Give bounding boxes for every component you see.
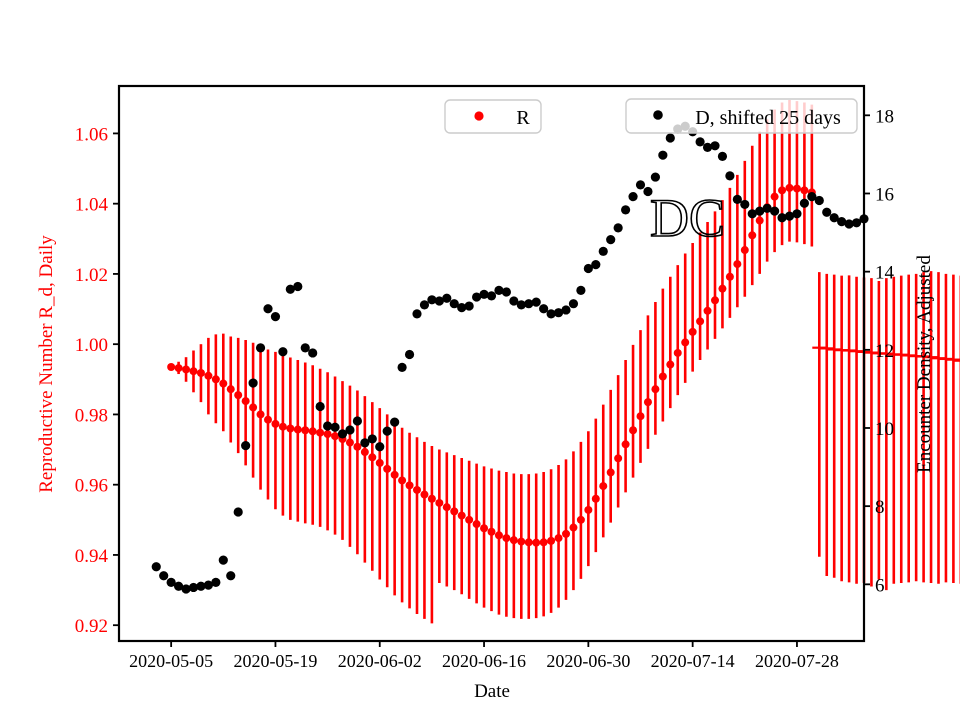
left-tick-label: 0.98 xyxy=(75,405,108,426)
d-point xyxy=(249,378,258,387)
r-point xyxy=(383,465,391,473)
d-point xyxy=(219,555,228,564)
d-point xyxy=(390,418,399,427)
x-tick-label: 2020-05-05 xyxy=(129,651,213,671)
chart-figure: DC 0.920.940.960.981.001.021.041.06 6810… xyxy=(0,0,960,720)
left-tick-label: 1.04 xyxy=(75,195,109,216)
r-point xyxy=(733,260,741,268)
r-point xyxy=(361,448,369,456)
r-point xyxy=(309,427,317,435)
r-point xyxy=(324,430,332,438)
d-point xyxy=(256,343,265,352)
d-point xyxy=(532,298,541,307)
d-point xyxy=(405,350,414,359)
r-point xyxy=(257,410,265,418)
r-point xyxy=(212,375,220,383)
r-point xyxy=(800,186,808,194)
dc-annotation: DC xyxy=(650,188,725,248)
left-axis-title: Reproductive Number R_d, Daily xyxy=(36,235,57,493)
r-point xyxy=(644,398,652,406)
r-point xyxy=(286,424,294,432)
r-point xyxy=(458,512,466,520)
r-point xyxy=(473,520,481,528)
x-tick-label: 2020-06-16 xyxy=(442,651,526,671)
r-point xyxy=(227,385,235,393)
d-point xyxy=(725,171,734,180)
x-axis-title: Date xyxy=(474,681,510,702)
x-tick-label: 2020-07-14 xyxy=(651,651,735,671)
r-point xyxy=(167,363,175,371)
d-point xyxy=(770,206,779,215)
r-point xyxy=(249,403,257,411)
legend-d-marker-icon xyxy=(653,110,663,120)
d-point xyxy=(234,507,243,516)
r-point xyxy=(696,317,704,325)
r-point xyxy=(190,367,198,375)
d-point xyxy=(301,343,310,352)
r-point xyxy=(577,516,585,524)
d-point xyxy=(710,141,719,150)
r-point xyxy=(793,185,801,193)
d-point xyxy=(465,301,474,310)
d-point xyxy=(718,152,727,161)
legend-r-marker-icon xyxy=(474,111,483,120)
r-point xyxy=(741,246,749,254)
r-point xyxy=(540,538,548,546)
r-point xyxy=(726,273,734,281)
d-point xyxy=(487,291,496,300)
d-point xyxy=(561,305,570,314)
d-point xyxy=(368,434,377,443)
r-point xyxy=(786,184,794,192)
r-point xyxy=(629,426,637,434)
d-point xyxy=(636,180,645,189)
r-point xyxy=(413,486,421,494)
r-point xyxy=(279,423,287,431)
legend-d[interactable]: D, shifted 25 days xyxy=(626,99,857,133)
r-point xyxy=(301,426,309,434)
d-point xyxy=(420,300,429,309)
left-tick-label: 0.94 xyxy=(75,546,109,567)
d-point xyxy=(658,151,667,160)
d-point xyxy=(822,208,831,217)
left-tick-label: 1.00 xyxy=(75,335,108,356)
right-tick-label: 8 xyxy=(875,497,885,518)
r-point xyxy=(242,397,250,405)
r-point xyxy=(532,539,540,547)
d-point xyxy=(733,195,742,204)
legend-d-label: D, shifted 25 days xyxy=(695,107,841,129)
d-point xyxy=(353,416,362,425)
r-point xyxy=(294,426,302,434)
left-tick-label: 0.92 xyxy=(75,616,108,637)
legend-r-label: R xyxy=(516,107,530,129)
left-tick-label: 1.02 xyxy=(75,265,108,286)
d-point xyxy=(383,427,392,436)
r-point xyxy=(435,499,443,507)
d-point xyxy=(159,571,168,580)
r-point xyxy=(748,231,756,239)
d-point xyxy=(666,133,675,142)
r-point xyxy=(465,516,473,524)
r-point xyxy=(778,186,786,194)
r-point xyxy=(264,416,272,424)
r-point xyxy=(711,296,719,304)
d-point xyxy=(398,363,407,372)
r-point xyxy=(704,307,712,315)
r-point xyxy=(771,193,779,201)
d-point xyxy=(308,348,317,357)
r-point xyxy=(271,420,279,428)
d-point xyxy=(651,172,660,181)
d-point xyxy=(412,309,421,318)
r-point xyxy=(674,349,682,357)
r-point xyxy=(666,361,674,369)
r-point xyxy=(391,471,399,479)
d-point xyxy=(606,235,615,244)
d-point xyxy=(345,425,354,434)
r-point xyxy=(182,365,190,373)
r-point xyxy=(234,391,242,399)
x-tick-label: 2020-06-30 xyxy=(546,651,630,671)
r-point xyxy=(689,328,697,336)
right-tick-label: 12 xyxy=(875,341,894,362)
r-point xyxy=(622,440,630,448)
x-tick-label: 2020-06-02 xyxy=(338,651,422,671)
r-point xyxy=(316,429,324,437)
x-tick-label: 2020-05-19 xyxy=(233,651,317,671)
r-point xyxy=(584,506,592,514)
r-point xyxy=(592,495,600,503)
right-tick-label: 14 xyxy=(875,263,895,284)
d-point xyxy=(696,137,705,146)
d-point xyxy=(792,209,801,218)
d-point xyxy=(152,562,161,571)
left-tick-label: 0.96 xyxy=(75,476,108,497)
d-point xyxy=(278,347,287,356)
r-point xyxy=(346,439,354,447)
r-point xyxy=(555,534,563,542)
d-point xyxy=(375,442,384,451)
r-point xyxy=(547,537,555,545)
chart-canvas: DC 0.920.940.960.981.001.021.041.06 6810… xyxy=(0,0,960,720)
r-point xyxy=(525,538,533,546)
d-point xyxy=(591,260,600,269)
r-point xyxy=(651,385,659,393)
d-point xyxy=(442,294,451,303)
d-point xyxy=(628,192,637,201)
d-point xyxy=(293,282,302,291)
r-point xyxy=(331,432,339,440)
r-point xyxy=(420,491,428,499)
d-point xyxy=(740,200,749,209)
r-point xyxy=(599,482,607,490)
r-point xyxy=(510,536,518,544)
r-point xyxy=(569,524,577,532)
x-tick-label: 2020-07-28 xyxy=(755,651,839,671)
d-point xyxy=(576,286,585,295)
r-point xyxy=(368,453,376,461)
right-tick-label: 6 xyxy=(875,575,885,596)
left-tick-label: 1.06 xyxy=(75,124,108,145)
r-point xyxy=(607,468,615,476)
right-axis-title: Encounter Density, Adjusted xyxy=(914,255,935,473)
d-point xyxy=(599,247,608,256)
r-point xyxy=(681,338,689,346)
d-point xyxy=(271,312,280,321)
r-point xyxy=(495,531,503,539)
r-point xyxy=(428,495,436,503)
d-point xyxy=(226,571,235,580)
r-point xyxy=(450,507,458,515)
right-tick-label: 10 xyxy=(875,419,894,440)
r-point xyxy=(204,372,212,380)
d-point xyxy=(502,287,511,296)
r-point xyxy=(376,459,384,467)
d-point xyxy=(539,304,548,313)
d-point xyxy=(815,196,824,205)
d-point xyxy=(621,205,630,214)
r-point xyxy=(219,380,227,388)
r-point xyxy=(353,443,361,451)
r-point xyxy=(398,476,406,484)
right-tick-label: 18 xyxy=(875,106,894,127)
d-point xyxy=(614,223,623,232)
d-point xyxy=(316,402,325,411)
r-point xyxy=(718,285,726,293)
right-tick-label: 16 xyxy=(875,184,894,205)
r-point xyxy=(502,534,510,542)
d-point xyxy=(241,441,250,450)
r-point xyxy=(175,364,183,372)
d-point xyxy=(569,299,578,308)
legend-r[interactable]: R xyxy=(445,100,541,133)
d-point xyxy=(263,304,272,313)
r-point xyxy=(488,528,496,536)
r-point xyxy=(406,481,414,489)
d-point xyxy=(330,423,339,432)
r-point xyxy=(480,524,488,532)
d-point xyxy=(211,578,220,587)
r-point xyxy=(197,369,205,377)
d-point xyxy=(800,199,809,208)
r-point xyxy=(756,217,764,225)
r-point xyxy=(517,538,525,546)
r-point xyxy=(443,503,451,511)
r-point xyxy=(659,372,667,380)
r-point xyxy=(637,412,645,420)
r-point xyxy=(614,454,622,462)
r-point xyxy=(562,530,570,538)
